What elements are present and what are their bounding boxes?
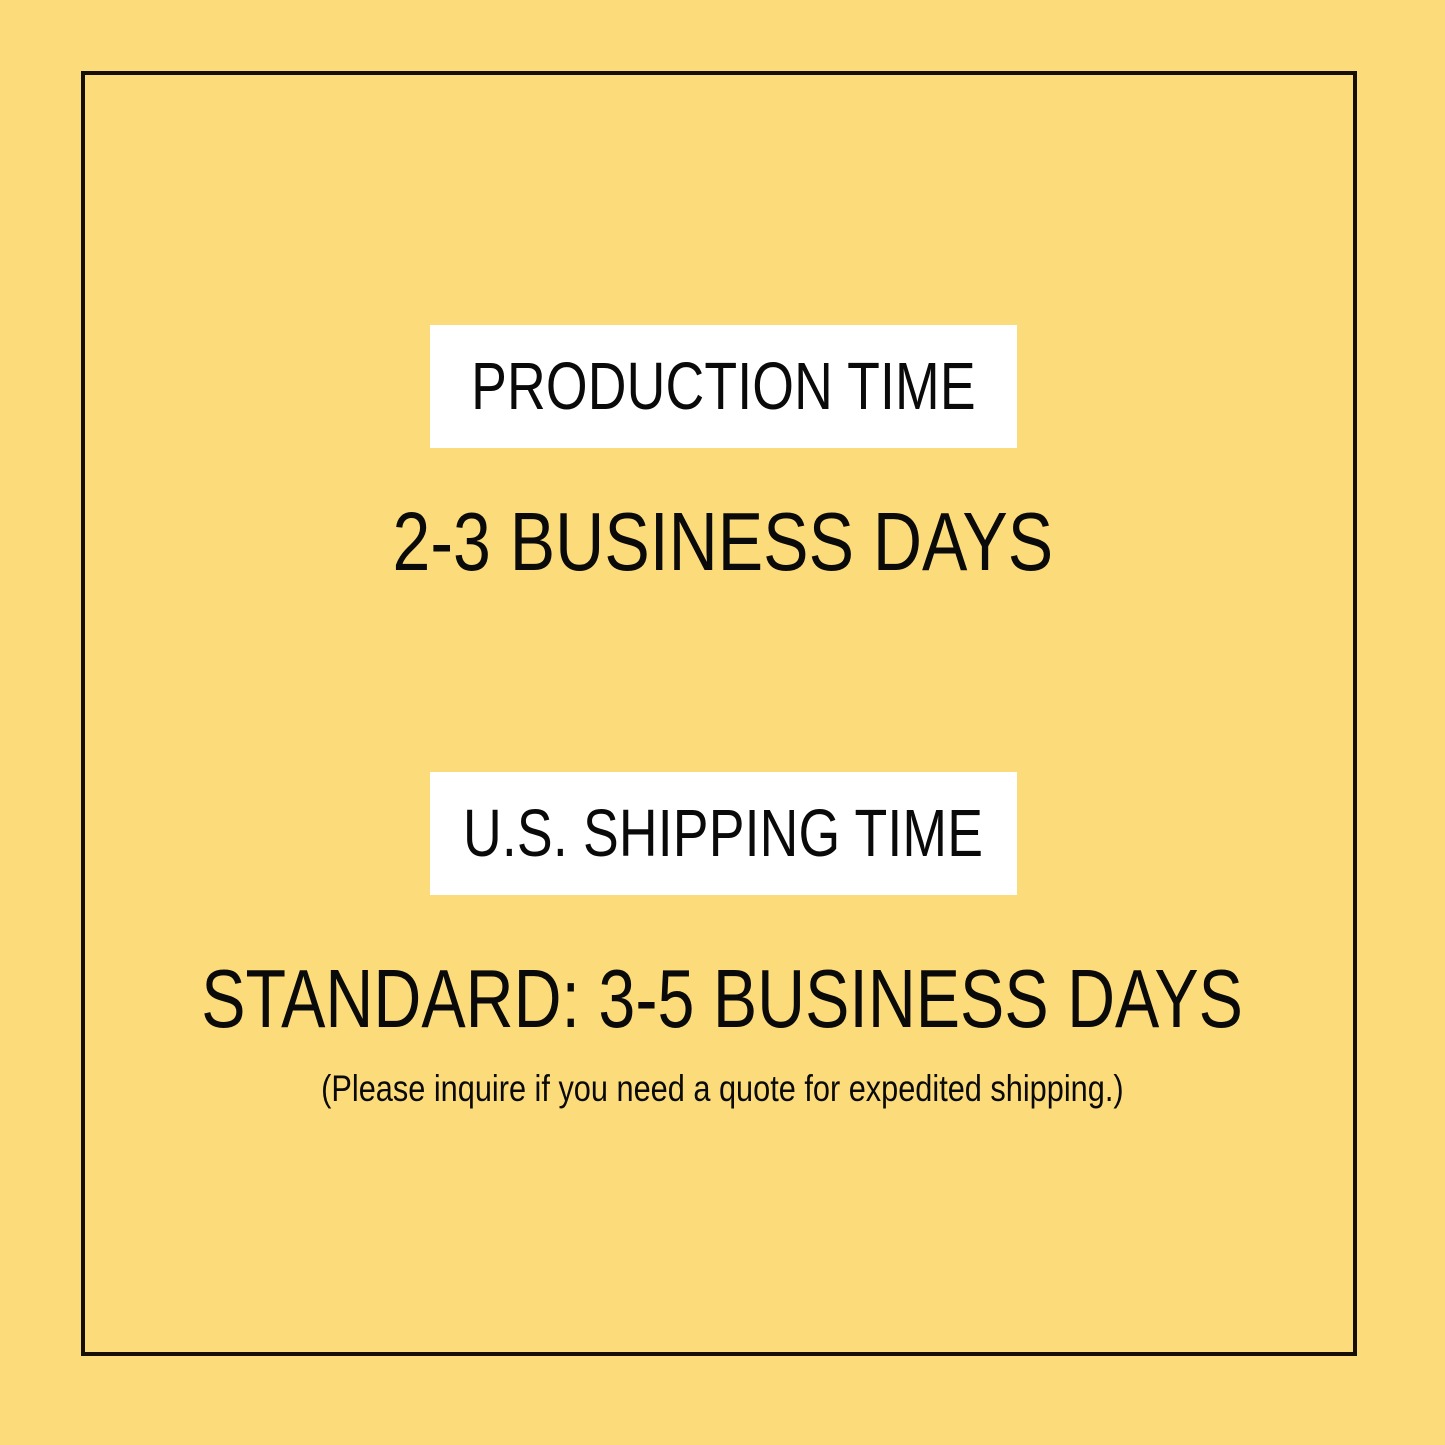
shipping-time-value-row: STANDARD: 3-5 BUSINESS DAYS [0,957,1445,1040]
production-time-value-row: 2-3 BUSINESS DAYS [0,500,1445,583]
production-time-label-plate: PRODUCTION TIME [430,325,1017,448]
shipping-info-graphic: PRODUCTION TIME 2-3 BUSINESS DAYS U.S. S… [0,0,1445,1445]
shipping-note: (Please inquire if you need a quote for … [321,1068,1123,1111]
shipping-time-label-plate: U.S. SHIPPING TIME [430,772,1017,895]
shipping-note-row: (Please inquire if you need a quote for … [0,1068,1445,1111]
production-time-label: PRODUCTION TIME [471,353,976,420]
infographic-content: PRODUCTION TIME 2-3 BUSINESS DAYS U.S. S… [0,0,1445,1445]
shipping-time-label: U.S. SHIPPING TIME [463,800,983,867]
shipping-time-value: STANDARD: 3-5 BUSINESS DAYS [202,957,1244,1040]
production-time-value: 2-3 BUSINESS DAYS [392,500,1053,583]
